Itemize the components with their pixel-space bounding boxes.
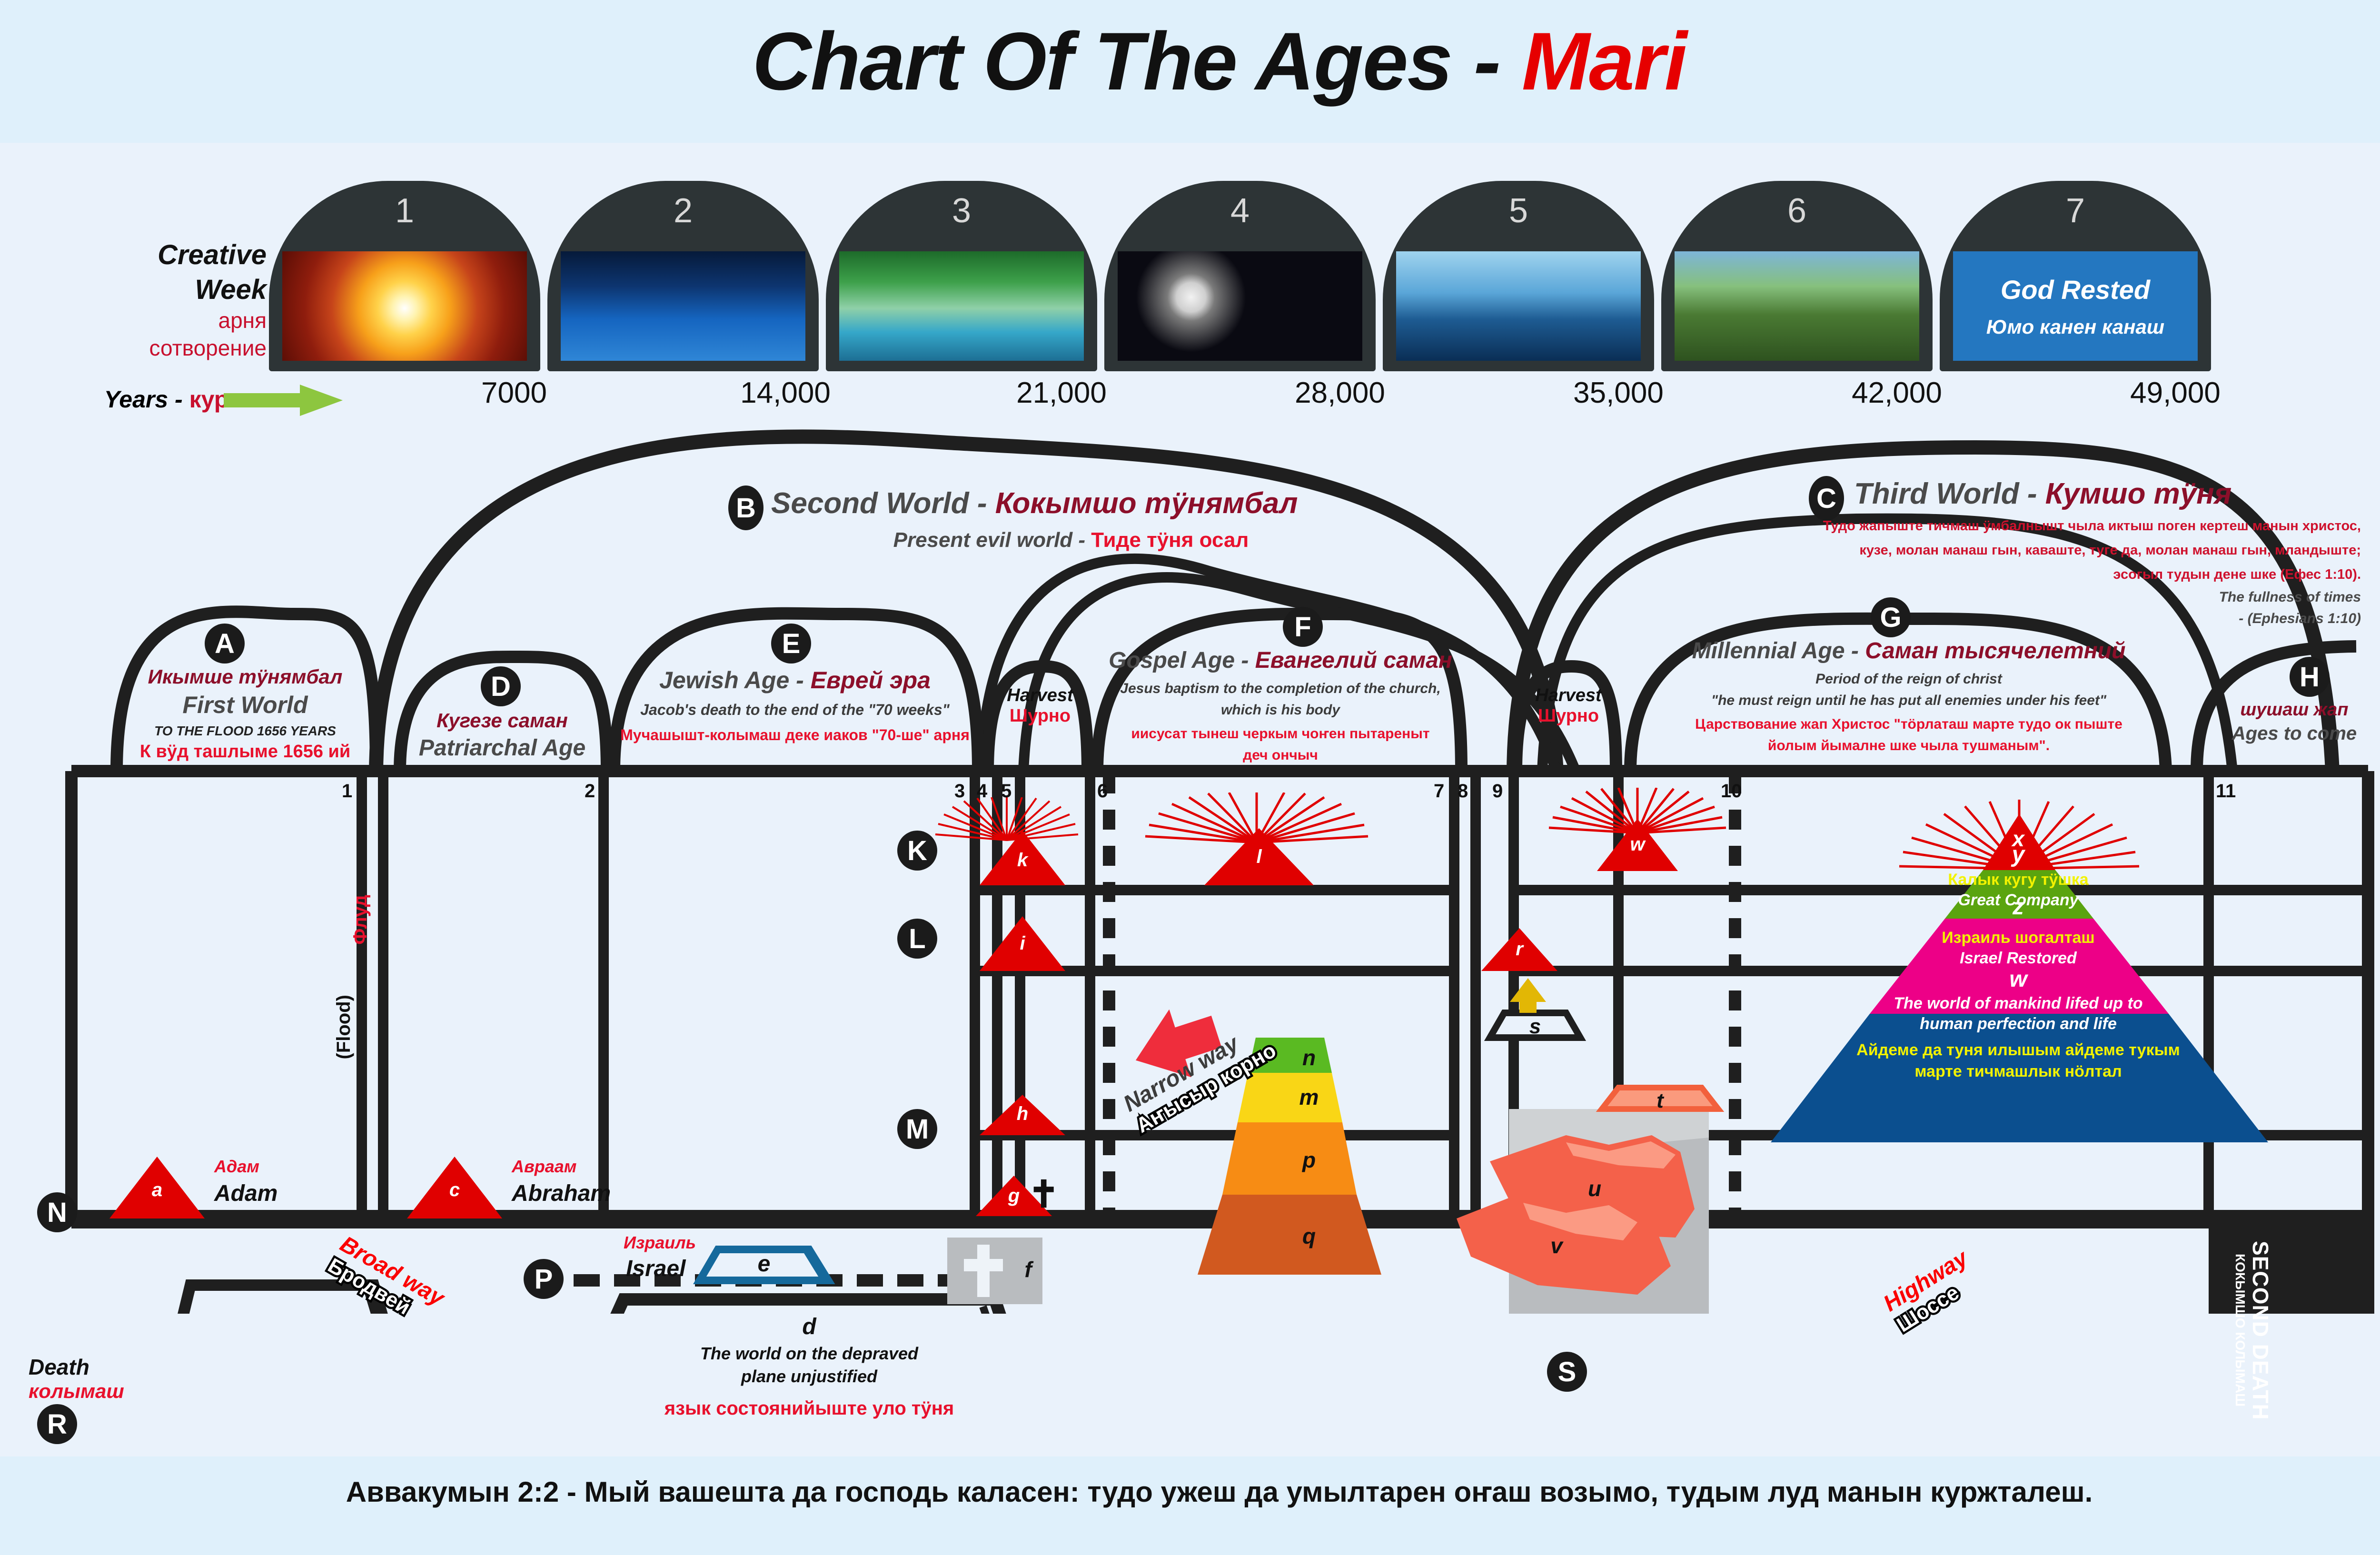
marker-k-letter: k — [980, 850, 1065, 871]
badge-first-world: A — [205, 624, 245, 664]
third-world-para-en-2: - (Ephesians 1:10) — [1571, 608, 2361, 629]
small-pyramid-level-p: p — [1119, 1147, 1499, 1173]
badge-jewish-age: E — [771, 624, 811, 664]
jewish-age-ru: Еврей эра — [811, 667, 931, 693]
age-gospel: Gospel Age - Евангелий саман Jesus bapti… — [1104, 647, 1457, 765]
second-world-sub-ru: Тиде тÿня осал — [1091, 528, 1249, 552]
first-world-sub-en: TO THE FLOOD 1656 YEARS — [112, 723, 378, 739]
timeline-number-10: 10 — [1721, 781, 1742, 802]
millennial-sub-ru-2: йолым йымалне шке чыла тушманым". — [1642, 736, 2175, 756]
timeline-number-9: 9 — [1492, 781, 1503, 802]
gospel-age-sub-ru-1: иисусат тынеш черкым чоҥен пытареныт — [1104, 724, 1457, 744]
timeline-number-2: 2 — [585, 781, 595, 802]
first-world-ru: Икымше тÿнямбал — [112, 665, 378, 688]
big-pyramid-w-en-1: The world of mankind lifed up to — [1752, 994, 2285, 1013]
timeline-number-6: 6 — [1097, 781, 1108, 802]
second-world-sub-en: Present evil world - — [893, 528, 1091, 552]
badge-patriarchal-age: D — [481, 666, 521, 706]
badge-gospel-age: F — [1283, 607, 1323, 647]
depraved-ru: язык состоянийыште уло тÿня — [600, 1398, 1019, 1419]
harvest-2-ru: Шурно — [1514, 706, 1623, 726]
third-world-para-en-1: The fullness of times — [1571, 586, 2361, 608]
flood-label: Флуд — [350, 895, 371, 945]
badge-p-row: P — [524, 1259, 564, 1299]
depraved-letter: d — [600, 1314, 1019, 1340]
gospel-age-sub-ru-2: деч ончыч — [1104, 746, 1457, 765]
marker-l-letter: l — [1204, 846, 1314, 868]
badge-l-row: L — [897, 919, 937, 959]
third-world-para-ru-1: Тудо жапыште тичмаш ÿмбалнышт чыла иктыш… — [1571, 514, 2361, 538]
jewish-age-en: Jewish Age - — [659, 667, 811, 693]
age-first-world: Икымше тÿнямбал First World TO THE FLOOD… — [112, 665, 378, 762]
third-world-title-en: Third World - — [1854, 477, 2045, 510]
chart-of-the-ages-page: Chart Of The Ages - Mari Creative Week а… — [0, 0, 2380, 1555]
gospel-age-sub-en-2: which is his body — [1104, 701, 1457, 720]
small-pyramid-level-q: q — [1119, 1223, 1499, 1249]
big-pyramid-z-ru: Израиль шогалташ — [1752, 929, 2285, 947]
gospel-age-ru: Евангелий саман — [1255, 648, 1452, 673]
third-world-paragraph: Тудо жапыште тичмаш ÿмбалнышт чыла иктыш… — [1571, 514, 2361, 629]
badge-second-world: B — [728, 485, 764, 530]
marker-u-letter: u — [1557, 1176, 1633, 1201]
depraved-en-1: The world on the depraved — [600, 1344, 1019, 1364]
millennial-sub-en-1: Period of the reign of christ — [1642, 670, 2175, 689]
timeline-number-7: 7 — [1434, 781, 1444, 802]
harvest-1-en: Harvest — [985, 685, 1095, 706]
gospel-age-sub-en-1: Jesus baptism to the completion of the c… — [1104, 679, 1457, 699]
age-to-come: шушаш жап Ages to come — [2218, 700, 2370, 744]
millennial-sub-en-2: "he must reign until he has put all enem… — [1642, 691, 2175, 711]
footer-scripture: Аввакумын 2:2 - Мый вашешта да господь к… — [0, 1476, 2380, 1508]
second-death-en: SECOND DEATH — [2248, 1226, 2273, 1435]
big-pyramid-w-letter: w — [2009, 967, 2027, 992]
marker-abraham-letter: c — [407, 1179, 502, 1201]
marker-adam-ru: Адам — [214, 1157, 259, 1177]
marker-t-letter: t — [1602, 1089, 1718, 1113]
ages-to-come-en: Ages to come — [2218, 723, 2370, 744]
timeline-number-4: 4 — [977, 781, 987, 802]
death-en: Death — [29, 1354, 124, 1380]
footer-band: Аввакумын 2:2 - Мый вашешта да господь к… — [0, 1456, 2380, 1555]
marker-israel-letter: e — [700, 1251, 828, 1277]
flood-label-ru: Флуд — [350, 895, 371, 945]
big-pyramid-w-ru-1: Айдеме да туня илышым айдеме тукым — [1752, 1041, 2285, 1060]
timeline-number-3: 3 — [954, 781, 965, 802]
depraved-world-box: d The world on the depraved plane unjust… — [600, 1314, 1019, 1419]
flood-label-en-wrap: (Flood) — [333, 995, 355, 1060]
first-world-en: First World — [112, 691, 378, 719]
harvest-2: Harvest Шурно — [1514, 685, 1623, 726]
age-millennial: Millennial Age - Саман тысячелетний Peri… — [1642, 638, 2175, 755]
marker-r-letter: r — [1481, 939, 1557, 960]
timeline-number-11: 11 — [2216, 781, 2236, 802]
marker-f-letter: f — [1000, 1257, 1057, 1282]
marker-israel-en: Israel — [626, 1256, 685, 1282]
age-jewish: Jewish Age - Еврей эра Jacob's death to … — [619, 666, 971, 745]
big-pyramid-z-letter: z — [2013, 894, 2024, 920]
second-world-title-en: Second World - — [771, 487, 995, 520]
ages-to-come-ru: шушаш жап — [2218, 700, 2370, 720]
timeline-number-1: 1 — [342, 781, 352, 802]
harvest-1-ru: Шурно — [985, 706, 1095, 726]
depraved-en-2: plane unjustified — [600, 1367, 1019, 1387]
second-world-subheading: Present evil world - Тиде тÿня осал — [762, 528, 1380, 552]
marker-h-letter: h — [980, 1103, 1065, 1125]
big-pyramid-level-z: z Израиль шогалташ Israel Restored — [1752, 894, 2285, 968]
marker-i-letter: i — [980, 933, 1065, 954]
big-pyramid-y-ru: Калык кугу тÿшка — [1752, 871, 2285, 889]
jewish-age-sub-ru: Мучашышт-колымаш деке иаков "70-ше" арня — [619, 725, 971, 745]
big-pyramid-z-en: Israel Restored — [1752, 949, 2285, 968]
second-world-title-ru: Кокымшо тÿнямбал — [995, 487, 1298, 520]
jewish-age-sub-en: Jacob's death to the end of the "70 week… — [619, 700, 971, 720]
badge-n-row: N — [37, 1192, 77, 1232]
third-world-para-ru-2: кузе, молан манаш гын, каваште, туге да,… — [1571, 538, 2361, 563]
patriarchal-ru: Кугезе саман — [395, 709, 609, 732]
third-world-heading: Third World - Кумшо тÿня — [1854, 477, 2380, 511]
big-pyramid-w-en-2: human perfection and life — [1752, 1015, 2285, 1033]
marker-adam-letter: a — [109, 1179, 205, 1201]
marker-w-letter: w — [1597, 834, 1678, 855]
marker-israel-ru: Израиль — [624, 1233, 696, 1253]
patriarchal-en: Patriarchal Age — [395, 735, 609, 761]
badge-millennial-age: G — [1871, 597, 1911, 637]
second-world-heading: Second World - Кокымшо тÿнямбал — [771, 486, 1342, 520]
marker-adam-en: Adam — [214, 1180, 278, 1207]
millennial-age-en: Millennial Age - — [1692, 638, 1865, 664]
second-death-ru: КОКЫМШО КОЛЫМАШ — [2232, 1226, 2248, 1435]
badge-ages-to-come: H — [2290, 657, 2330, 697]
third-world-title-ru: Кумшо тÿня — [2045, 477, 2231, 510]
age-patriarchal: Кугезе саман Patriarchal Age — [395, 709, 609, 761]
cross-icon: ✝ — [1028, 1176, 1059, 1213]
big-pyramid-y-letter: y — [2012, 842, 2025, 867]
big-pyramid-level-w: w The world of mankind lifed up to human… — [1752, 966, 2285, 1081]
marker-abraham-en: Abraham — [512, 1180, 611, 1207]
harvest-1: Harvest Шурно — [985, 685, 1095, 726]
badge-third-world: C — [1809, 476, 1844, 521]
harvest-2-en: Harvest — [1514, 685, 1623, 706]
death-label: Death колымаш — [29, 1354, 124, 1403]
third-world-para-ru-3: эсогыл тудын дене шке (Ефес 1:10). — [1571, 563, 2361, 587]
marker-s-letter: s — [1490, 1015, 1580, 1039]
timeline-number-5: 5 — [1001, 781, 1011, 802]
gospel-age-en: Gospel Age - — [1109, 648, 1255, 673]
second-death-label: SECOND DEATH КОКЫМШО КОЛЫМАШ — [2232, 1226, 2273, 1435]
millennial-sub-ru-1: Царствование жап Христос "тöрлаташ марте… — [1642, 715, 2175, 734]
big-pyramid-w-ru-2: марте тичмашлык нöлтал — [1752, 1062, 2285, 1081]
badge-k-row: K — [897, 831, 937, 871]
marker-v-letter: v — [1518, 1233, 1595, 1258]
badge-m-row: M — [897, 1109, 937, 1149]
badge-r-row: R — [37, 1404, 77, 1444]
death-ru: колымаш — [29, 1380, 124, 1403]
marker-abraham-ru: Авраам — [512, 1157, 576, 1177]
millennial-age-ru: Саман тысячелетний — [1865, 638, 2125, 664]
flood-label-en: (Flood) — [333, 995, 354, 1060]
badge-s-stone: S — [1547, 1352, 1587, 1392]
first-world-sub-ru: К вÿд ташлыме 1656 ий — [112, 742, 378, 762]
timeline-number-8: 8 — [1458, 781, 1468, 802]
